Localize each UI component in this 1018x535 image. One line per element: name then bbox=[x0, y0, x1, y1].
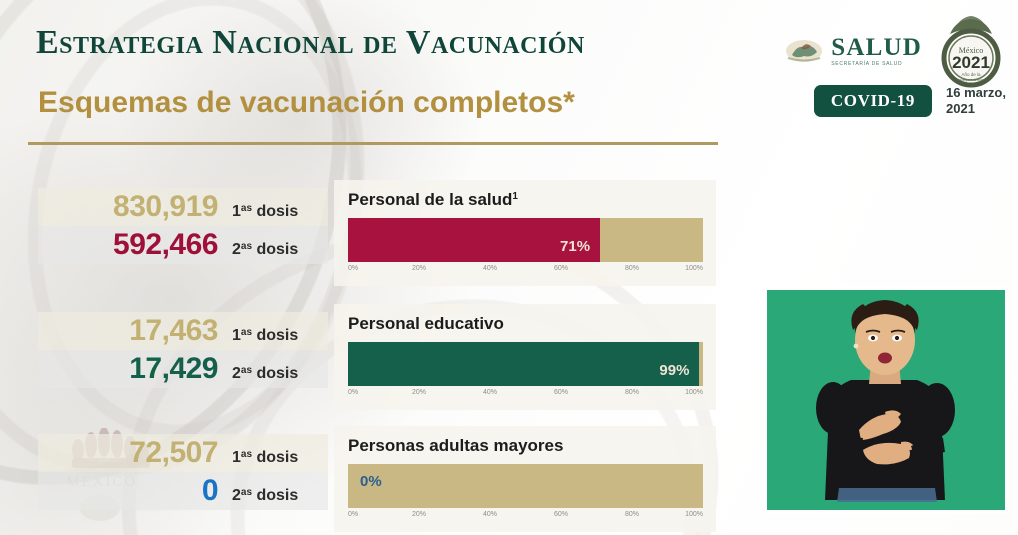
dose-ordinal-suffix: as bbox=[241, 327, 252, 338]
axis-tick: 100% bbox=[685, 511, 703, 518]
second-dose-label: 2as dosis bbox=[232, 352, 320, 393]
second-dose-line: 0 2as dosis bbox=[38, 472, 328, 510]
chart-card-title: Personal de la salud1 bbox=[348, 190, 703, 210]
second-dose-label: 2as dosis bbox=[232, 228, 320, 269]
dose-word: dosis bbox=[256, 203, 298, 220]
axis-tick: 60% bbox=[554, 389, 568, 396]
chart-card: Personal educativo 99% 0% 20% 40% 60% 80… bbox=[334, 304, 716, 410]
covid-19-badge: COVID-19 bbox=[814, 85, 932, 117]
salud-subtitle: SECRETARÍA DE SALUD bbox=[831, 62, 922, 67]
footnote-marker: 1 bbox=[512, 191, 518, 202]
axis-tick: 0% bbox=[348, 389, 358, 396]
header-divider bbox=[28, 142, 718, 145]
chart-card: Personas adultas mayores 0% 0% 20% 40% 6… bbox=[334, 426, 716, 532]
bar-axis: 0% 20% 40% 60% 80% 100% bbox=[348, 388, 703, 402]
bar-axis: 0% 20% 40% 60% 80% 100% bbox=[348, 264, 703, 278]
chart-card-title-text: Personas adultas mayores bbox=[348, 436, 563, 455]
dose-ordinal: 1 bbox=[232, 203, 241, 220]
bar-percent-label: 99% bbox=[659, 362, 699, 386]
bar-percent-label: 71% bbox=[560, 238, 600, 262]
axis-tick: 0% bbox=[348, 265, 358, 272]
axis-tick: 100% bbox=[685, 265, 703, 272]
axis-tick: 40% bbox=[483, 389, 497, 396]
video-feed bbox=[767, 290, 1005, 510]
mexico-2021-medal-icon: México 2021 Año de la Independencia bbox=[936, 14, 1006, 88]
slide-canvas: MEXICO Estrategia Nacional de Vacunación… bbox=[0, 0, 1018, 535]
chart-card-title-text: Personal educativo bbox=[348, 314, 504, 333]
second-dose-value: 592,466 bbox=[113, 226, 218, 264]
axis-tick: 60% bbox=[554, 511, 568, 518]
axis-tick: 40% bbox=[483, 511, 497, 518]
salud-wordmark: SALUD bbox=[831, 35, 922, 60]
badge-row: COVID-19 16 marzo, 2021 bbox=[814, 85, 1006, 118]
first-dose-value: 17,463 bbox=[129, 312, 218, 350]
dose-numbers-group: 72,507 1as dosis 0 2as dosis bbox=[38, 434, 328, 510]
sign-language-video-panel bbox=[763, 286, 1009, 514]
axis-tick: 20% bbox=[412, 389, 426, 396]
second-dose-label: 2as dosis bbox=[232, 474, 320, 515]
first-dose-label: 1as dosis bbox=[232, 436, 320, 477]
chart-card-title: Personal educativo bbox=[348, 314, 703, 334]
dose-ordinal-suffix: as bbox=[241, 449, 252, 460]
second-dose-line: 592,466 2as dosis bbox=[38, 226, 328, 264]
dose-ordinal: 1 bbox=[232, 327, 241, 344]
axis-tick: 80% bbox=[625, 265, 639, 272]
chart-card: Personal de la salud1 71% 0% 20% 40% 60%… bbox=[334, 180, 716, 286]
chart-card-title-text: Personal de la salud bbox=[348, 190, 512, 209]
first-dose-line: 72,507 1as dosis bbox=[38, 434, 328, 472]
second-dose-value: 0 bbox=[202, 472, 218, 510]
dose-ordinal: 2 bbox=[232, 365, 241, 382]
second-dose-line: 17,429 2as dosis bbox=[38, 350, 328, 388]
svg-text:2021: 2021 bbox=[952, 53, 990, 72]
dose-numbers-group: 17,463 1as dosis 17,429 2as dosis bbox=[38, 312, 328, 388]
logo-row: SALUD SECRETARÍA DE SALUD México 2021 Añ… bbox=[784, 14, 1006, 88]
slide-date: 16 marzo, 2021 bbox=[946, 85, 1006, 118]
dose-ordinal-suffix: as bbox=[241, 487, 252, 498]
dose-word: dosis bbox=[256, 241, 298, 258]
bar-track: 71% bbox=[348, 218, 703, 262]
bar-track: 0% bbox=[348, 464, 703, 508]
second-dose-value: 17,429 bbox=[129, 350, 218, 388]
first-dose-value: 72,507 bbox=[129, 434, 218, 472]
dose-word: dosis bbox=[256, 327, 298, 344]
dose-ordinal: 1 bbox=[232, 449, 241, 466]
chart-card-title: Personas adultas mayores bbox=[348, 436, 703, 456]
axis-tick: 20% bbox=[412, 511, 426, 518]
dose-ordinal-suffix: as bbox=[241, 241, 252, 252]
axis-tick: 80% bbox=[625, 389, 639, 396]
axis-tick: 20% bbox=[412, 265, 426, 272]
dose-word: dosis bbox=[256, 365, 298, 382]
page-subtitle: Esquemas de vacunación completos* bbox=[38, 86, 575, 120]
bar-track: 99% bbox=[348, 342, 703, 386]
bar-percent-label: 0% bbox=[360, 473, 382, 490]
axis-tick: 40% bbox=[483, 265, 497, 272]
first-dose-label: 1as dosis bbox=[232, 190, 320, 231]
dose-ordinal: 2 bbox=[232, 241, 241, 258]
dose-ordinal-suffix: as bbox=[241, 365, 252, 376]
axis-tick: 60% bbox=[554, 265, 568, 272]
first-dose-value: 830,919 bbox=[113, 188, 218, 226]
eagle-emblem-icon bbox=[784, 38, 824, 64]
page-title: Estrategia Nacional de Vacunación bbox=[36, 24, 585, 62]
dose-ordinal: 2 bbox=[232, 487, 241, 504]
bar-fill: 99% bbox=[348, 342, 699, 386]
bar-axis: 0% 20% 40% 60% 80% 100% bbox=[348, 510, 703, 524]
axis-tick: 0% bbox=[348, 511, 358, 518]
interpreter-figure bbox=[767, 290, 1005, 510]
dose-word: dosis bbox=[256, 487, 298, 504]
bar-fill: 71% bbox=[348, 218, 600, 262]
dose-numbers-group: 830,919 1as dosis 592,466 2as dosis bbox=[38, 188, 328, 264]
axis-tick: 80% bbox=[625, 511, 639, 518]
dose-ordinal-suffix: as bbox=[241, 203, 252, 214]
salud-logo: SALUD SECRETARÍA DE SALUD bbox=[784, 35, 922, 67]
svg-text:Independencia: Independencia bbox=[958, 77, 985, 82]
axis-tick: 100% bbox=[685, 389, 703, 396]
first-dose-label: 1as dosis bbox=[232, 314, 320, 355]
first-dose-line: 17,463 1as dosis bbox=[38, 312, 328, 350]
first-dose-line: 830,919 1as dosis bbox=[38, 188, 328, 226]
dose-word: dosis bbox=[256, 449, 298, 466]
